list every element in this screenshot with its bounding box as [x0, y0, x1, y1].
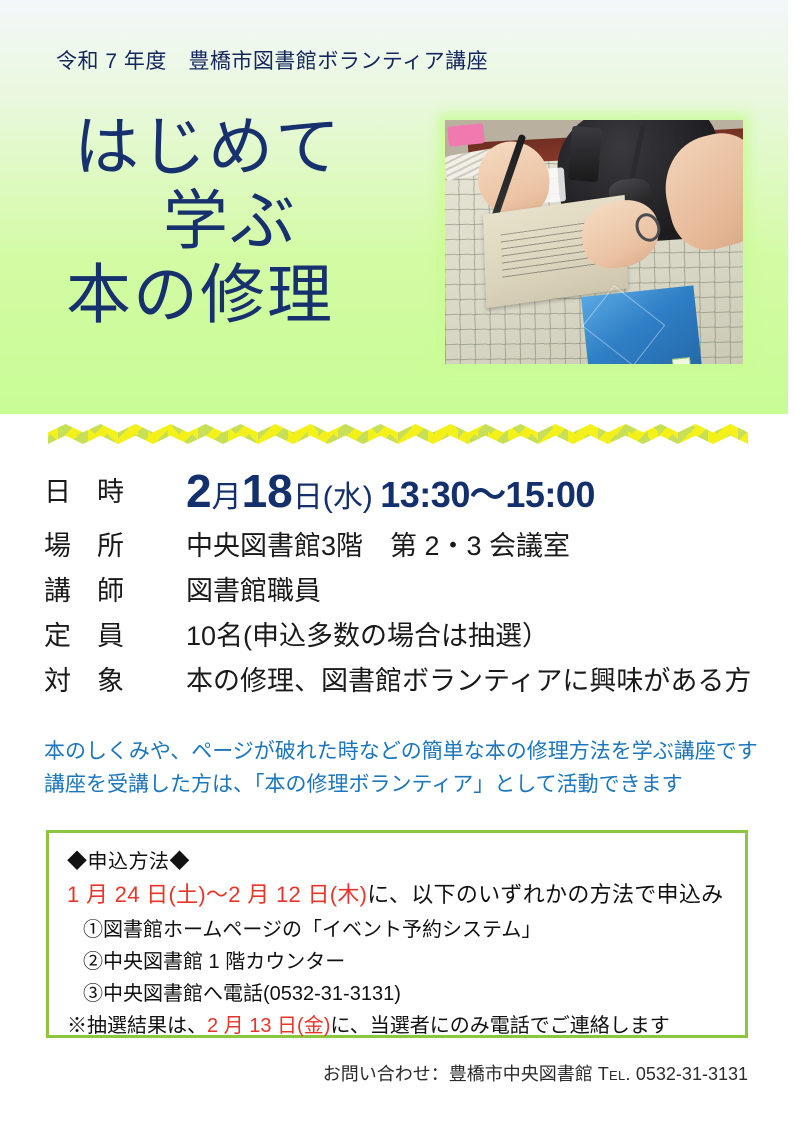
info-value-audience: 本の修理、図書館ボランティアに興味がある方	[186, 659, 751, 698]
lottery-note-suffix: に、当選者にのみ電話でご連絡します	[330, 1015, 669, 1037]
photo-frame	[445, 120, 743, 364]
footer-tel-number: 0532-31-3131	[636, 1064, 748, 1084]
info-row-capacity: 定員 10名(申込多数の場合は抽選）	[44, 614, 764, 653]
footer-tel-label: Tel.	[598, 1064, 631, 1084]
info-label-place: 場所	[44, 524, 186, 563]
poster-title-line-1: はじめて	[60, 110, 400, 184]
poster-title-line-2: 学ぶ	[60, 184, 400, 258]
application-item-3: ③中央図書館へ電話(0532-31-3131)	[67, 977, 745, 1006]
application-item-1: ①図書館ホームページの「イベント予約システム」	[67, 913, 745, 942]
lottery-note-prefix: ※抽選結果は、	[67, 1015, 207, 1037]
info-label-capacity: 定員	[44, 614, 186, 653]
course-description: 本のしくみや、ページが破れた時などの簡単な本の修理方法を学ぶ講座です 講座を受講…	[44, 736, 774, 801]
photo-pink-item	[447, 123, 485, 146]
event-day-unit: 日(水)	[293, 481, 373, 514]
info-row-datetime: 日時 2月18日(水) 13:30〜15:00	[44, 462, 764, 516]
hero-green-band: 令和 7 年度 豊橋市図書館ボランティア講座 はじめて 学ぶ 本の修理	[0, 0, 788, 414]
application-period-dates: 1 月 24 日(土)〜2 月 12 日(木)	[67, 882, 367, 907]
info-value-datetime: 2月18日(水) 13:30〜15:00	[186, 464, 595, 518]
photo-stapler	[568, 126, 602, 182]
lottery-result-note: ※抽選結果は、2 月 13 日(金)に、当選者にのみ電話でご連絡します	[67, 1009, 745, 1038]
course-description-line-1: 本のしくみや、ページが破れた時などの簡単な本の修理方法を学ぶ講座です	[44, 736, 774, 769]
application-heading: ◆申込方法◆	[67, 845, 745, 874]
application-item-2: ②中央図書館 1 階カウンター	[67, 945, 745, 974]
poster-title: はじめて 学ぶ 本の修理	[60, 110, 400, 332]
info-label-datetime: 日時	[44, 470, 186, 509]
event-day: 18	[242, 465, 293, 517]
info-value-place: 中央図書館3階 第 2・3 会議室	[186, 524, 570, 563]
info-row-audience: 対象 本の修理、図書館ボランティアに興味がある方	[44, 659, 764, 698]
info-row-place: 場所 中央図書館3階 第 2・3 会議室	[44, 524, 764, 563]
application-method-box: ◆申込方法◆ 1 月 24 日(土)〜2 月 12 日(木)に、以下のいずれかの…	[46, 830, 748, 1038]
event-info-list: 日時 2月18日(水) 13:30〜15:00 場所 中央図書館3階 第 2・3…	[44, 462, 764, 704]
event-month-unit: 月	[212, 481, 242, 514]
zigzag-divider	[48, 424, 748, 444]
event-month: 2	[186, 465, 212, 517]
book-repair-photo	[437, 112, 751, 372]
photo-book-label	[672, 357, 691, 364]
photo-blue-book	[581, 285, 702, 364]
info-label-audience: 対象	[44, 659, 186, 698]
lottery-note-date: 2 月 13 日(金)	[207, 1015, 330, 1037]
event-time: 13:30〜15:00	[380, 474, 595, 515]
info-row-instructor: 講師 図書館職員	[44, 569, 764, 608]
info-value-instructor: 図書館職員	[186, 569, 321, 608]
info-value-capacity: 10名(申込多数の場合は抽選）	[186, 614, 549, 653]
application-period: 1 月 24 日(土)〜2 月 12 日(木)に、以下のいずれかの方法で申込み	[67, 877, 745, 909]
info-label-instructor: 講師	[44, 569, 186, 608]
footer-contact-label: お問い合わせ：豊橋市中央図書館	[323, 1064, 593, 1084]
footer-contact: お問い合わせ：豊橋市中央図書館 Tel. 0532-31-3131	[323, 1060, 748, 1086]
course-description-line-2: 講座を受講した方は、「本の修理ボランティア」として活動できます	[44, 769, 774, 802]
poster-title-line-3: 本の修理	[60, 258, 400, 332]
poster-kicker: 令和 7 年度 豊橋市図書館ボランティア講座	[56, 45, 488, 75]
application-period-suffix: に、以下のいずれかの方法で申込み	[367, 882, 723, 907]
